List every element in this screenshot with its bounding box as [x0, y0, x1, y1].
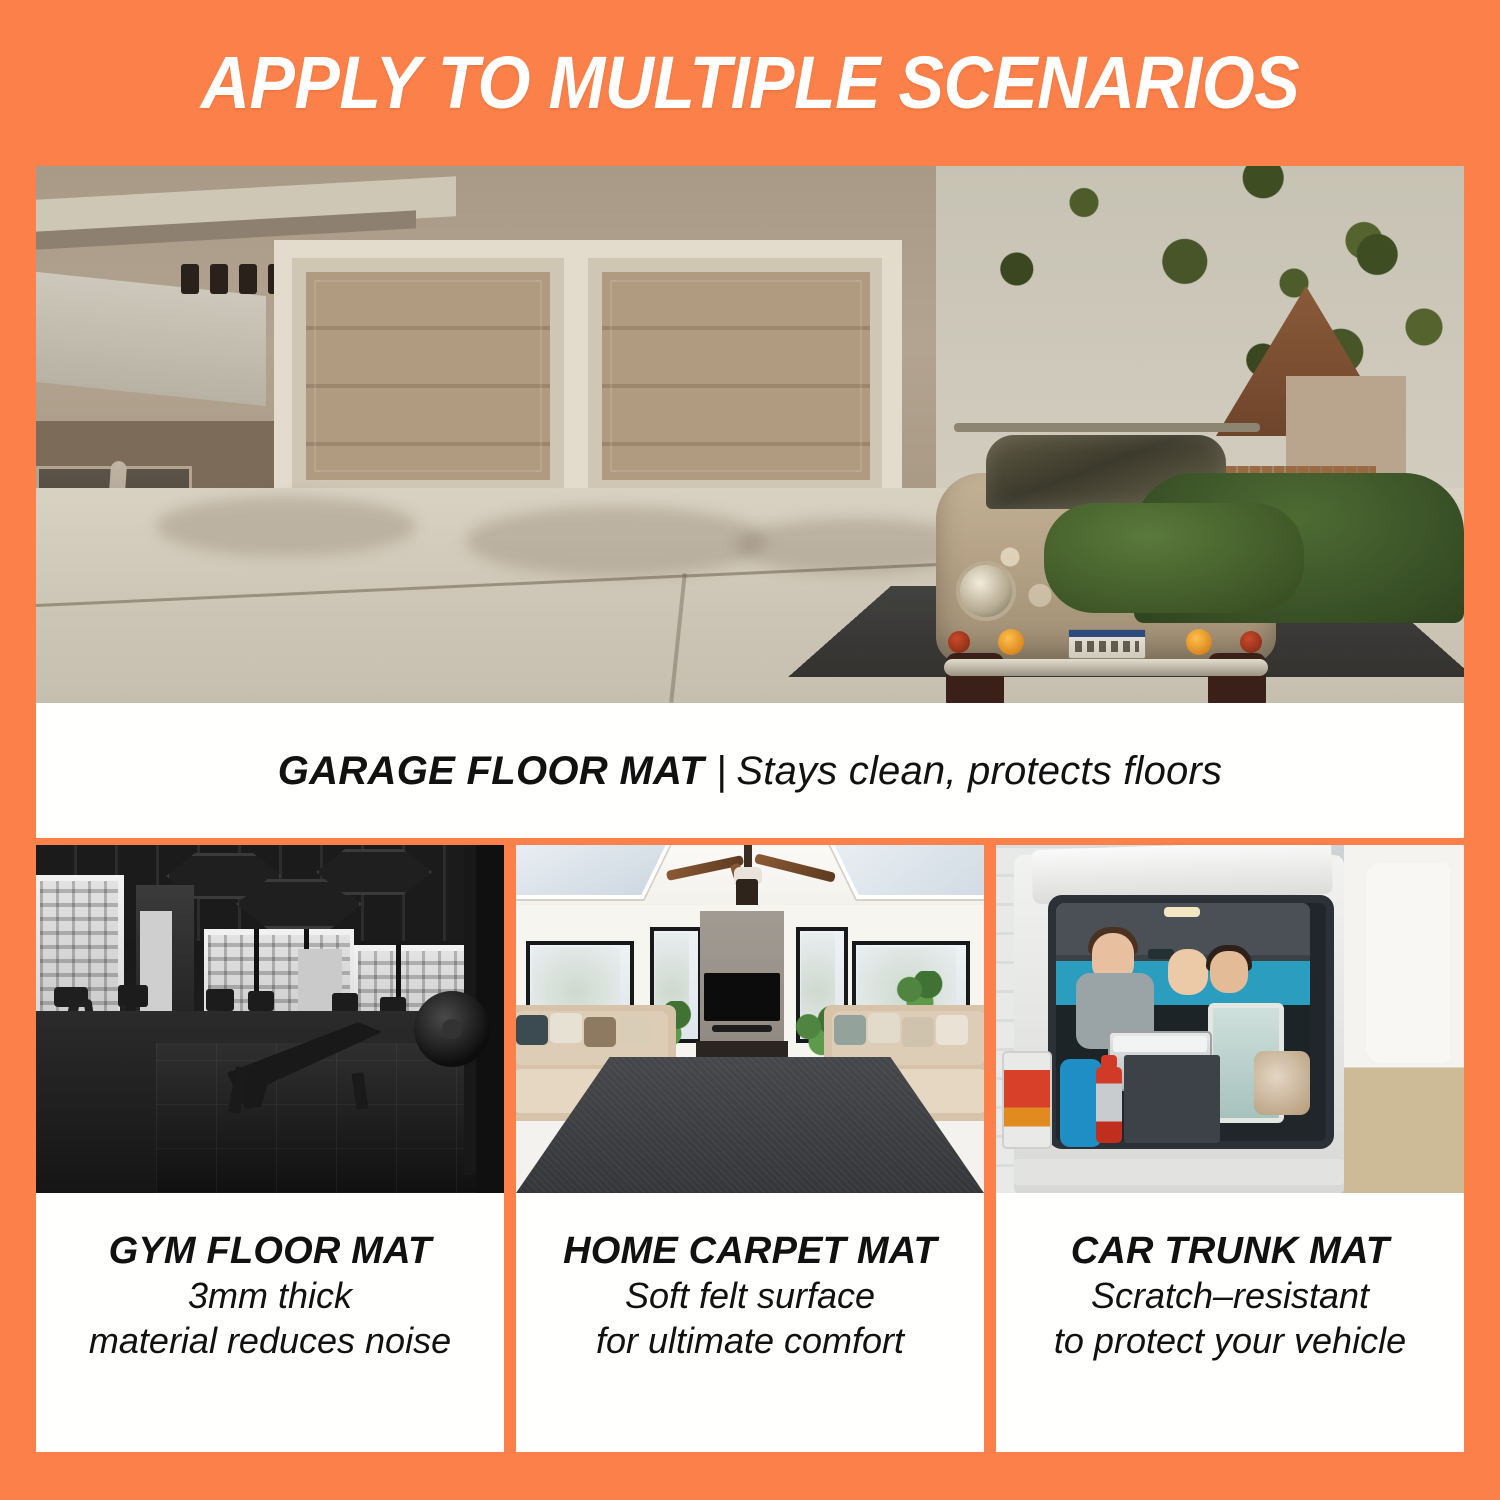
home-card-subtitle-line1: Soft felt surface — [625, 1273, 875, 1318]
living-room-scene-photo — [516, 845, 984, 1193]
house-number-digit — [210, 264, 228, 294]
house-number — [181, 264, 286, 294]
woman-face — [1168, 949, 1208, 995]
treadmill-console — [332, 993, 358, 1013]
card-car-trunk-mat: CAR TRUNK MAT Scratch–resistant to prote… — [996, 845, 1464, 1452]
page-title: APPLY TO MULTIPLE SCENARIOS — [201, 46, 1299, 120]
home-caption: HOME CARPET MAT Soft felt surface for ul… — [516, 1193, 984, 1452]
packed-pillow — [1254, 1051, 1310, 1115]
hero-card-garage: GARAGE FLOOR MAT|Stays clean, protects f… — [36, 166, 1464, 838]
treadmill-console — [118, 985, 148, 1007]
throw-pillow — [618, 1015, 650, 1045]
child-face — [1210, 951, 1248, 993]
rear-bumper — [1014, 1159, 1344, 1185]
trunk-card-title: CAR TRUNK MAT — [1071, 1229, 1390, 1273]
home-card-subtitle-line2: for ultimate comfort — [596, 1318, 904, 1363]
hero-caption-bar: GARAGE FLOOR MAT|Stays clean, protects f… — [36, 703, 1464, 838]
hero-caption-subtitle: Stays clean, protects floors — [736, 749, 1222, 793]
trunk-caption: CAR TRUNK MAT Scratch–resistant to prote… — [996, 1193, 1464, 1452]
garage-door-2 — [588, 258, 884, 490]
garage-door-1-panels — [306, 272, 550, 480]
card-gym-floor-mat: GYM FLOOR MAT 3mm thick material reduces… — [36, 845, 504, 1452]
chrome-bumper — [944, 659, 1268, 676]
trunk-scene — [996, 845, 1464, 1193]
gym-room — [36, 845, 504, 1193]
home-card-title: HOME CARPET MAT — [563, 1229, 937, 1273]
throw-pillow — [902, 1017, 934, 1047]
gym-card-subtitle-line1: 3mm thick — [188, 1273, 352, 1318]
throw-pillow — [584, 1017, 616, 1047]
header-banner: APPLY TO MULTIPLE SCENARIOS — [0, 0, 1500, 166]
throw-pillow — [834, 1015, 866, 1045]
elliptical-console — [54, 987, 88, 1007]
garage-door-header-1 — [274, 240, 584, 260]
throw-pillow — [936, 1015, 968, 1045]
tail-light — [1002, 1051, 1052, 1149]
house-number-digit — [239, 264, 257, 294]
gym-card-title: GYM FLOOR MAT — [109, 1229, 432, 1273]
wall-mounted-tv — [704, 973, 780, 1021]
garage-scene-photo — [36, 166, 1464, 703]
turn-signal-left — [998, 629, 1024, 655]
trunk-card-subtitle-line1: Scratch–resistant — [1091, 1273, 1369, 1318]
headlight-left — [956, 561, 1016, 621]
tree-shadow-a — [156, 496, 416, 556]
garage-door-trim-right — [882, 240, 902, 490]
hero-caption-line: GARAGE FLOOR MAT|Stays clean, protects f… — [278, 751, 1222, 791]
throw-pillow — [868, 1013, 900, 1043]
dome-light — [1164, 907, 1200, 917]
treadmill-console — [206, 989, 234, 1011]
side-marker-right — [1240, 631, 1262, 653]
barbell-weight-plate — [414, 991, 490, 1067]
turn-signal-right — [1186, 629, 1212, 655]
house-number-digit — [181, 264, 199, 294]
gym-caption: GYM FLOOR MAT 3mm thick material reduces… — [36, 1193, 504, 1452]
hero-caption-separator: | — [716, 751, 726, 791]
red-thermos — [1096, 1067, 1122, 1143]
garage-door-2-panels — [602, 272, 870, 480]
gym-card-subtitle-line2: material reduces noise — [89, 1318, 451, 1363]
hedge-right-second — [1044, 503, 1304, 613]
tree-shadow-b — [466, 506, 766, 576]
hero-caption-title: GARAGE FLOOR MAT — [278, 749, 704, 793]
throw-pillow — [550, 1013, 582, 1043]
poster: APPLY TO MULTIPLE SCENARIOS — [0, 0, 1500, 1500]
garage-door-header-2 — [564, 240, 894, 260]
car-trunk-mat — [1124, 1055, 1220, 1143]
scenario-cards-row: GYM FLOOR MAT 3mm thick material reduces… — [36, 845, 1464, 1452]
license-plate — [1068, 629, 1146, 659]
garage-door-1 — [292, 258, 564, 490]
person-shirt-sleeve — [1366, 863, 1450, 1063]
gym-scene-photo — [36, 845, 504, 1193]
soundbar — [712, 1025, 772, 1032]
living-room — [516, 845, 984, 1193]
treadmill-console — [248, 991, 274, 1011]
side-marker-left — [948, 631, 970, 653]
card-home-carpet-mat: HOME CARPET MAT Soft felt surface for ul… — [516, 845, 984, 1452]
car-trunk-scene-photo — [996, 845, 1464, 1193]
throw-pillow — [516, 1015, 548, 1045]
garage-door-trim-middle — [564, 240, 590, 490]
trunk-card-subtitle-line2: to protect your vehicle — [1054, 1318, 1406, 1363]
